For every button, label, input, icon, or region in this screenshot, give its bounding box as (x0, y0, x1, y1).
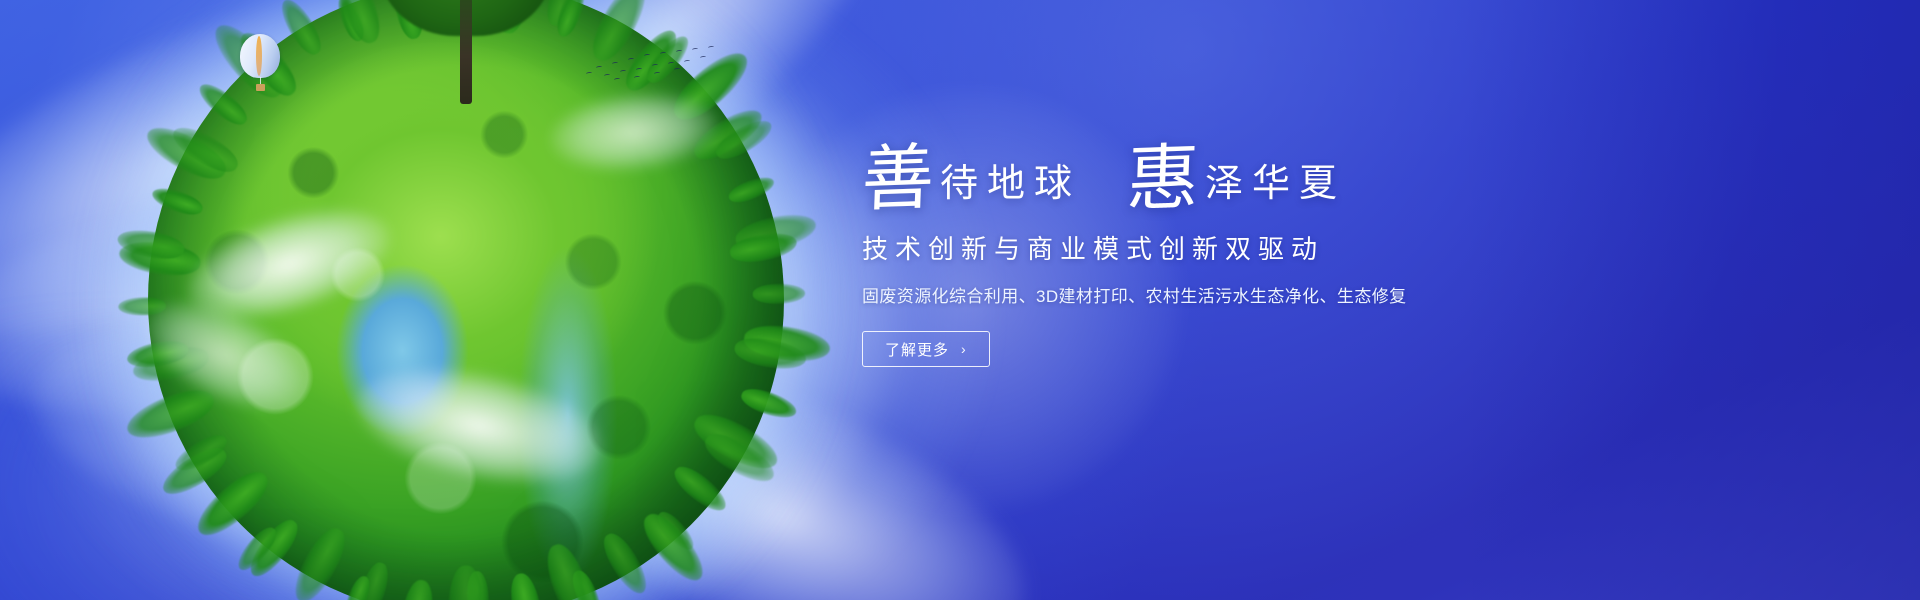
hero-subtitle: 技术创新与商业模式创新双驱动 (862, 236, 1762, 262)
bird-icon (700, 56, 706, 60)
bird-icon (674, 68, 680, 72)
headline-part2-big: 惠 (1126, 141, 1201, 215)
headline-part2-small: 泽华夏 (1205, 164, 1346, 202)
bird-icon (684, 60, 690, 64)
tree-trunk (460, 0, 472, 104)
bird-icon (636, 68, 642, 72)
chevron-right-icon: › (961, 342, 967, 356)
headline-part1-small: 待地球 (940, 164, 1081, 202)
bird-icon (612, 62, 618, 66)
hero-copy: 善 待地球 惠 泽华夏 技术创新与商业模式创新双驱动 固废资源化综合利用、3D建… (862, 126, 1762, 367)
bird-icon (634, 76, 640, 80)
bird-icon (692, 48, 698, 52)
headline-part1-big: 善 (861, 141, 936, 215)
bird-icon (604, 74, 610, 78)
learn-more-button[interactable]: 了解更多 › (862, 331, 990, 367)
bird-icon (614, 78, 620, 82)
bird-icon (652, 64, 658, 68)
bird-icon (660, 52, 666, 56)
bird-icon (668, 62, 674, 66)
bird-icon (654, 72, 660, 76)
bird-icon (628, 58, 634, 62)
balloon-stripe (256, 36, 262, 76)
bird-icon (586, 72, 592, 76)
pole-tree (380, 0, 552, 102)
bird-icon (596, 66, 602, 70)
bird-flock (584, 44, 714, 90)
balloon-basket (256, 84, 265, 91)
hero-description: 固废资源化综合利用、3D建材打印、农村生活污水生态净化、生态修复 (862, 288, 1762, 305)
bird-icon (644, 54, 650, 58)
bird-icon (708, 46, 714, 50)
hero-banner: 善 待地球 惠 泽华夏 技术创新与商业模式创新双驱动 固废资源化综合利用、3D建… (0, 0, 1920, 600)
page-title: 善 待地球 惠 泽华夏 (862, 126, 1762, 212)
bird-icon (620, 70, 626, 74)
learn-more-label: 了解更多 (885, 339, 949, 360)
hot-air-balloon-icon (240, 34, 280, 96)
bird-icon (676, 50, 682, 54)
